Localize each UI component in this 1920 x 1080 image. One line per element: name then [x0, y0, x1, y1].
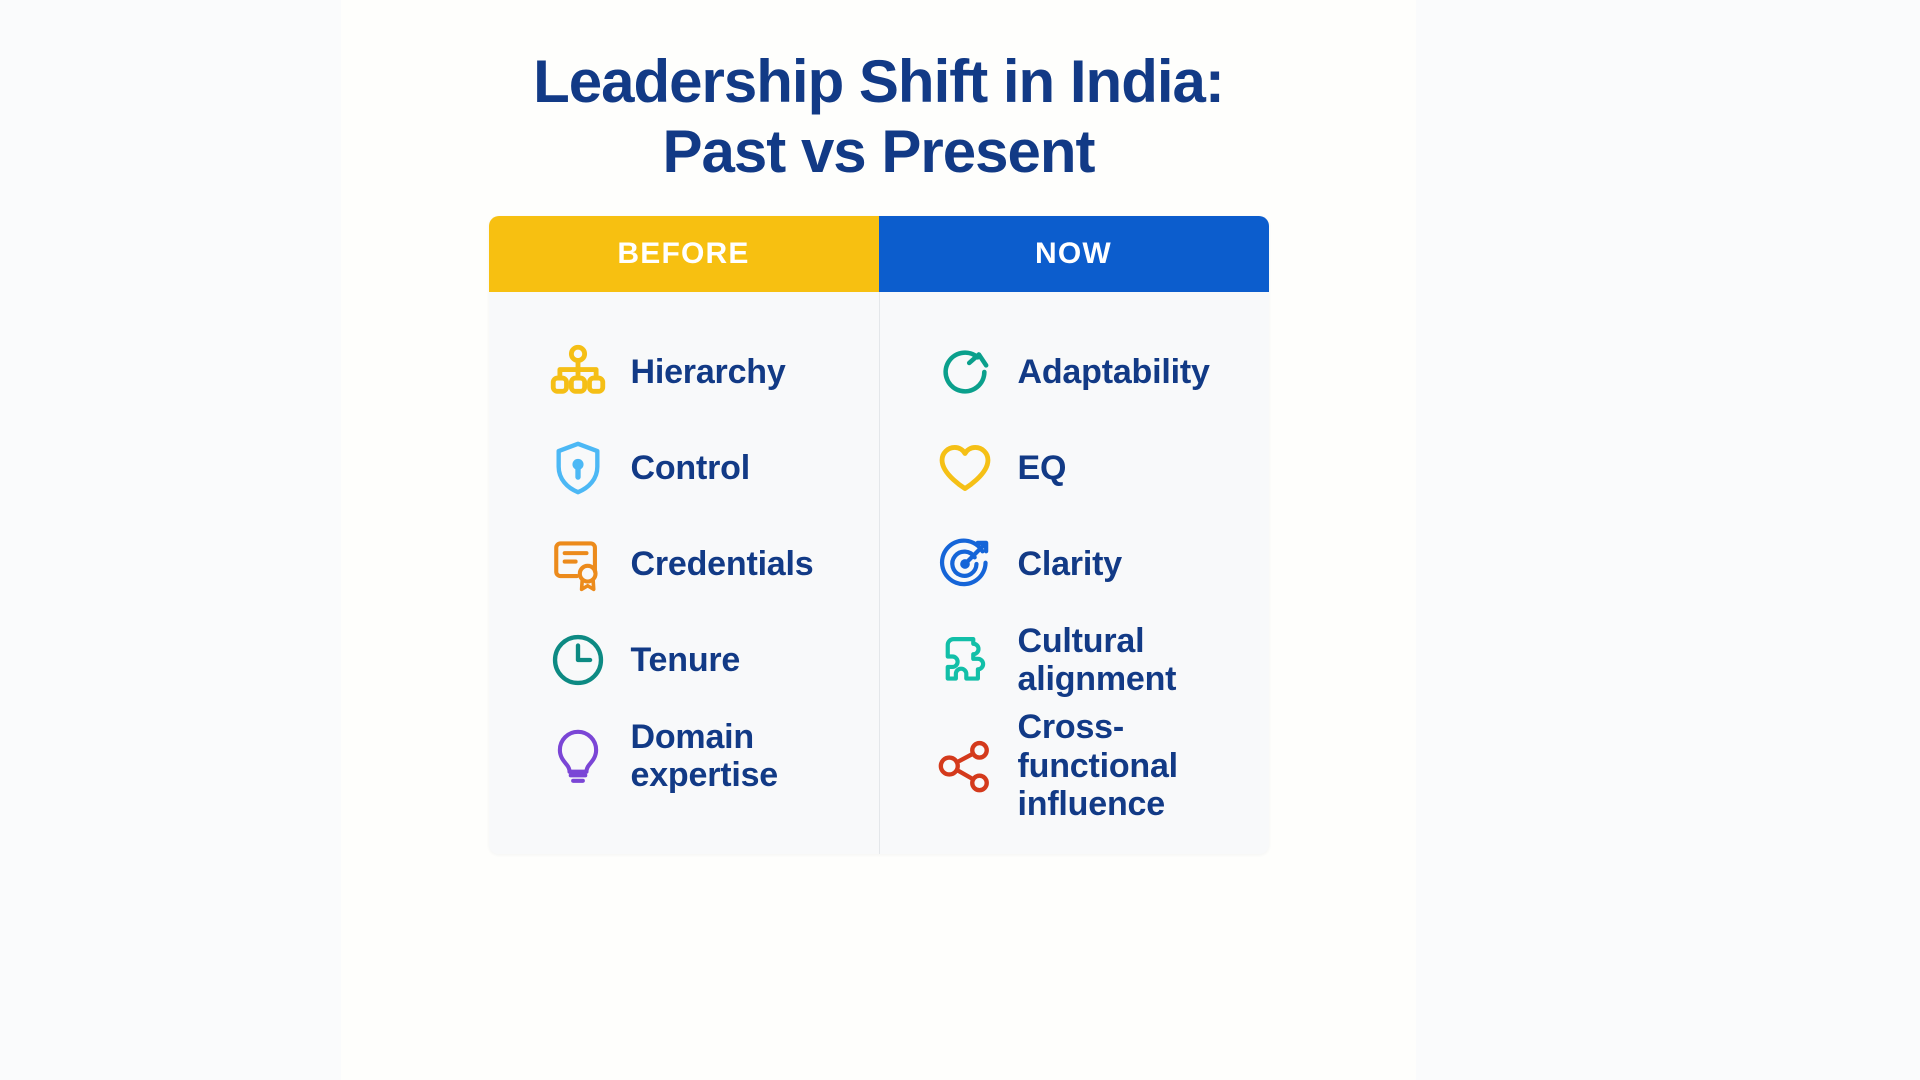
column-header-before: BEFORE	[489, 216, 879, 292]
list-item: EQ	[880, 420, 1269, 516]
column-before: Hierarchy Control	[489, 292, 879, 853]
clock-icon	[549, 631, 607, 689]
list-item-label: Domain expertise	[631, 718, 879, 795]
target-arrow-icon	[936, 535, 994, 593]
share-nodes-icon	[936, 737, 994, 795]
list-item: Clarity	[880, 516, 1269, 612]
list-item: Control	[489, 420, 879, 516]
list-item-label: Tenure	[631, 641, 741, 679]
puzzle-piece-icon	[936, 631, 994, 689]
list-item-label: Clarity	[1018, 545, 1122, 583]
title-line-1: Leadership Shift in India:	[379, 47, 1379, 117]
list-item-label: Control	[631, 449, 750, 487]
list-item: Tenure	[489, 612, 879, 708]
list-item-label: Hierarchy	[631, 353, 786, 391]
table-header-row: BEFORE NOW	[489, 216, 1269, 292]
hierarchy-icon	[549, 343, 607, 401]
list-item: Credentials	[489, 516, 879, 612]
list-item: Domain expertise	[489, 708, 879, 804]
list-item-label: EQ	[1018, 449, 1067, 487]
column-header-now: NOW	[879, 216, 1269, 292]
shield-lock-icon	[549, 439, 607, 497]
list-item-label: Adaptability	[1018, 353, 1210, 391]
infographic-card: VB Vision Board Experts Leadership Shift…	[341, 0, 1416, 1080]
list-item-label: Cultural alignment	[1018, 622, 1269, 699]
infographic-page: VB Vision Board Experts Leadership Shift…	[0, 0, 1920, 1080]
column-now: Adaptability EQ	[879, 292, 1269, 853]
list-item-label: Cross-functional influence	[1018, 708, 1269, 823]
comparison-table: BEFORE NOW	[489, 216, 1269, 853]
heart-icon	[936, 439, 994, 497]
lightbulb-icon	[549, 727, 607, 785]
certificate-icon	[549, 535, 607, 593]
refresh-circle-icon	[936, 343, 994, 401]
page-title: Leadership Shift in India: Past vs Prese…	[379, 47, 1379, 187]
list-item: Hierarchy	[489, 324, 879, 420]
list-item: Adaptability	[880, 324, 1269, 420]
list-item: Cultural alignment	[880, 612, 1269, 708]
table-body: Hierarchy Control	[489, 292, 1269, 853]
list-item: Cross-functional influence	[880, 708, 1269, 823]
list-item-label: Credentials	[631, 545, 814, 583]
title-line-2: Past vs Present	[379, 117, 1379, 187]
